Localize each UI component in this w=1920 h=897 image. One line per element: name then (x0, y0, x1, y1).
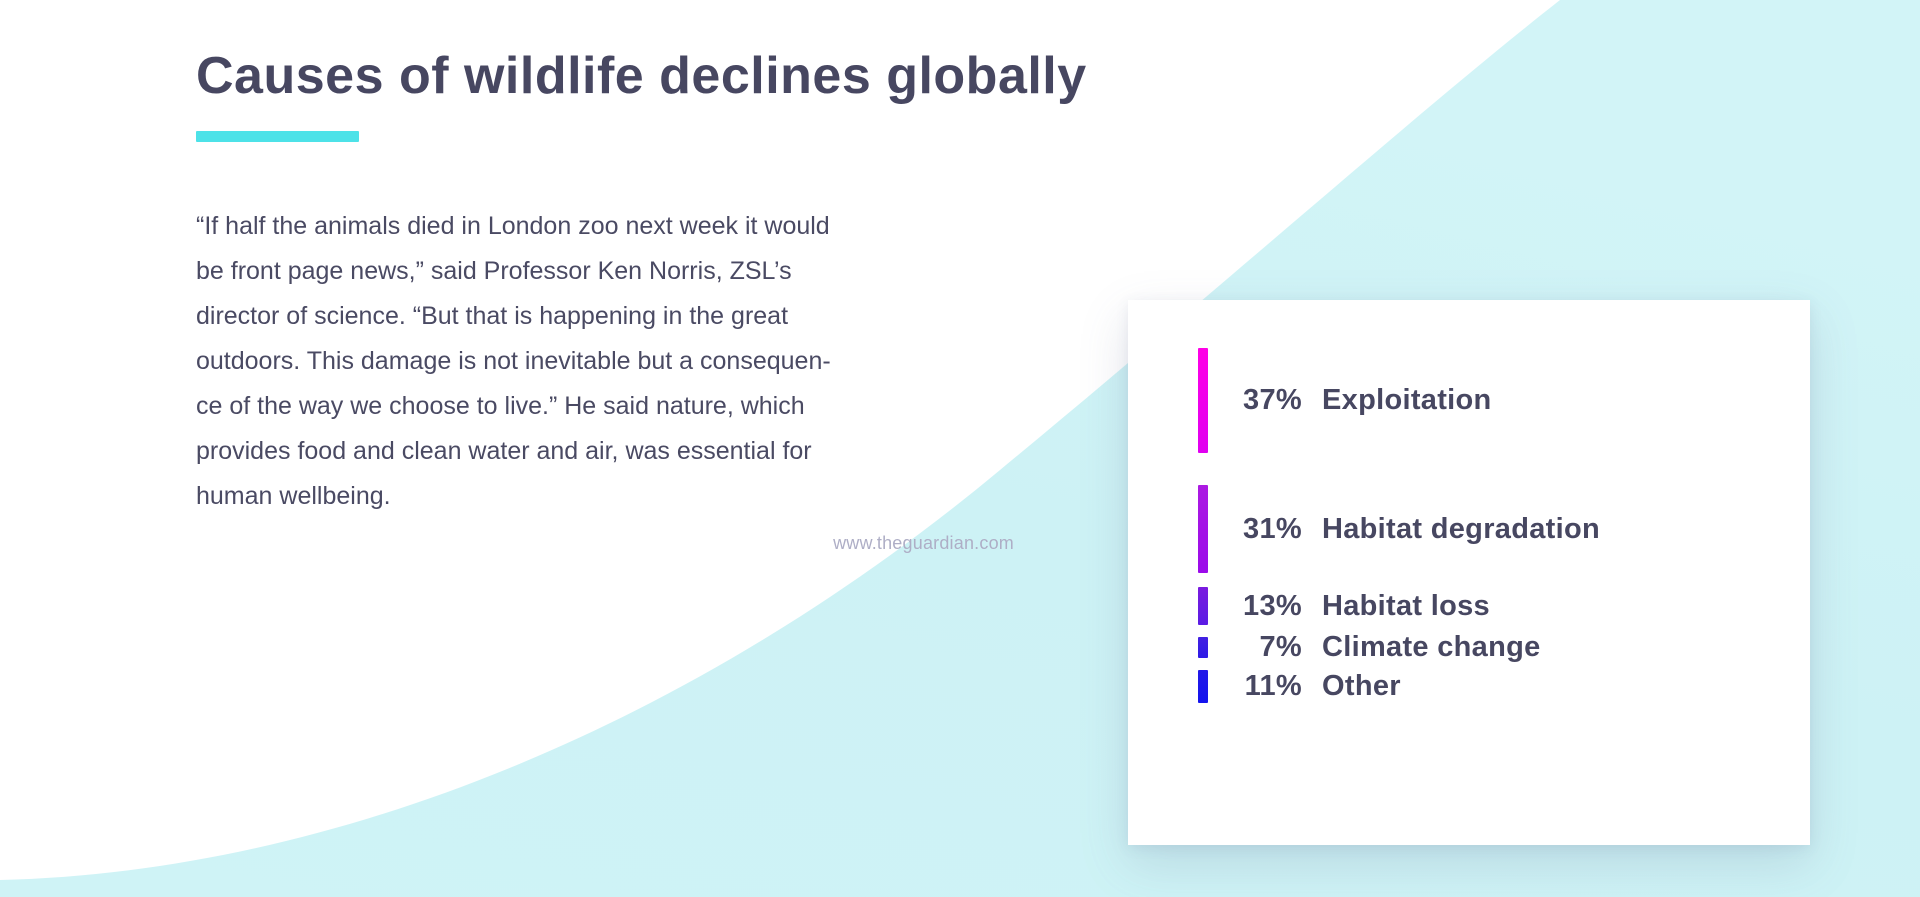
legend-label: Climate change (1322, 631, 1541, 664)
legend-label: Other (1322, 670, 1401, 703)
legend-text-group: 31%Habitat degradation (1236, 513, 1600, 546)
legend-color-bar (1198, 670, 1208, 703)
legend-text-group: 37%Exploitation (1236, 384, 1492, 417)
slide-canvas: Causes of wildlife declines globally “If… (0, 0, 1920, 897)
legend-row[interactable]: 37%Exploitation (1198, 348, 1784, 453)
legend-text-group: 11%Other (1236, 670, 1401, 703)
quote-line: ce of the way we choose to live.” He sai… (196, 384, 1014, 429)
legend-percent: 31% (1236, 513, 1302, 546)
source-attribution: www.theguardian.com (196, 533, 1014, 554)
legend-text-group: 7%Climate change (1236, 631, 1541, 664)
quote-line: provides food and clean water and air, w… (196, 429, 1014, 474)
legend-label: Exploitation (1322, 384, 1492, 417)
quote-line: “If half the animals died in London zoo … (196, 204, 1014, 249)
legend-label: Habitat loss (1322, 590, 1490, 623)
legend-text-group: 13%Habitat loss (1236, 590, 1490, 623)
legend-percent: 37% (1236, 384, 1302, 417)
legend-percent: 7% (1236, 631, 1302, 664)
quote-line: be front page news,” said Professor Ken … (196, 249, 1014, 294)
quote-paragraph: “If half the animals died in London zoo … (196, 204, 1014, 519)
quote-line: director of science. “But that is happen… (196, 294, 1014, 339)
legend-color-bar (1198, 587, 1208, 625)
title-accent-rule (196, 131, 359, 142)
content-column: Causes of wildlife declines globally “If… (196, 46, 1026, 554)
page-title: Causes of wildlife declines globally (196, 46, 1026, 107)
quote-line: human wellbeing. (196, 474, 1014, 519)
legend-card: 37%Exploitation31%Habitat degradation13%… (1128, 300, 1810, 845)
legend-color-bar (1198, 637, 1208, 658)
legend-color-bar (1198, 485, 1208, 573)
legend-percent: 11% (1236, 670, 1302, 703)
legend-row[interactable]: 11%Other (1198, 670, 1784, 703)
legend-list: 37%Exploitation31%Habitat degradation13%… (1198, 348, 1784, 815)
legend-label: Habitat degradation (1322, 513, 1600, 546)
legend-row[interactable]: 7%Climate change (1198, 637, 1784, 658)
legend-row[interactable]: 13%Habitat loss (1198, 587, 1784, 625)
quote-line: outdoors. This damage is not inevitable … (196, 339, 1014, 384)
legend-row[interactable]: 31%Habitat degradation (1198, 485, 1784, 573)
legend-percent: 13% (1236, 590, 1302, 623)
legend-color-bar (1198, 348, 1208, 453)
